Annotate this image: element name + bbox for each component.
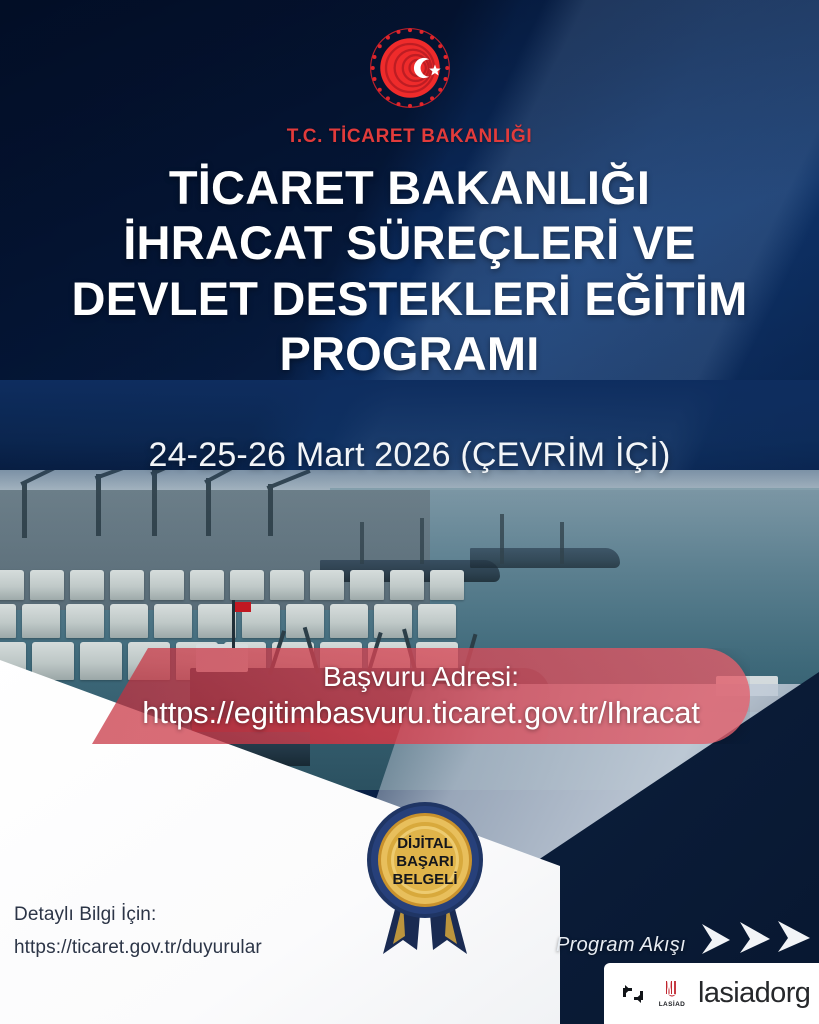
repost-retweet-icon	[620, 982, 646, 1006]
chevron-arrows-right-icon	[700, 920, 819, 968]
lasiad-mark-text: LASİAD	[659, 1000, 686, 1008]
ministry-header: T.C. TİCARET BAKANLIĞI	[0, 20, 819, 148]
poster-canvas: T.C. TİCARET BAKANLIĞI TİCARET BAKANLIĞI…	[0, 0, 819, 1024]
application-url[interactable]: https://egitimbasvuru.ticaret.gov.tr/Ihr…	[92, 695, 750, 731]
detail-info-block: Detaylı Bilgi İçin: https://ticaret.gov.…	[14, 898, 262, 965]
headline-line-4: PROGRAMI	[24, 326, 795, 381]
page-title: TİCARET BAKANLIĞI İHRACAT SÜREÇLERİ VE D…	[0, 160, 819, 382]
headline-line-2: İHRACAT SÜREÇLERİ VE	[24, 215, 795, 270]
headline-line-1: TİCARET BAKANLIĞI	[24, 160, 795, 215]
lasiad-logo-icon: LASİAD	[655, 979, 689, 1009]
headline-line-3: DEVLET DESTEKLERİ EĞİTİM	[24, 271, 795, 326]
lasiad-logo-bar: LASİAD lasiadorg	[604, 963, 819, 1024]
lasiad-handle[interactable]: lasiadorg	[698, 977, 810, 1010]
turkish-ministry-emblem-icon	[362, 20, 458, 116]
application-address-banner[interactable]: Başvuru Adresi: https://egitimbasvuru.ti…	[92, 648, 750, 744]
award-rosette-icon: DİJİTAL BAŞARI BELGELİ	[359, 798, 491, 958]
ministry-name-label: T.C. TİCARET BAKANLIĞI	[0, 126, 819, 148]
program-flow-label: Program Akışı	[556, 934, 686, 957]
badge-line-1: DİJİTAL	[397, 835, 453, 852]
detail-info-url[interactable]: https://ticaret.gov.tr/duyurular	[14, 931, 262, 964]
detail-info-label: Detaylı Bilgi İçin:	[14, 898, 262, 931]
application-label: Başvuru Adresi:	[92, 661, 750, 693]
badge-line-3: BELGELİ	[392, 871, 457, 888]
event-date: 24-25-26 Mart 2026 (ÇEVRİM İÇİ)	[0, 436, 819, 475]
badge-line-2: BAŞARI	[396, 853, 454, 870]
